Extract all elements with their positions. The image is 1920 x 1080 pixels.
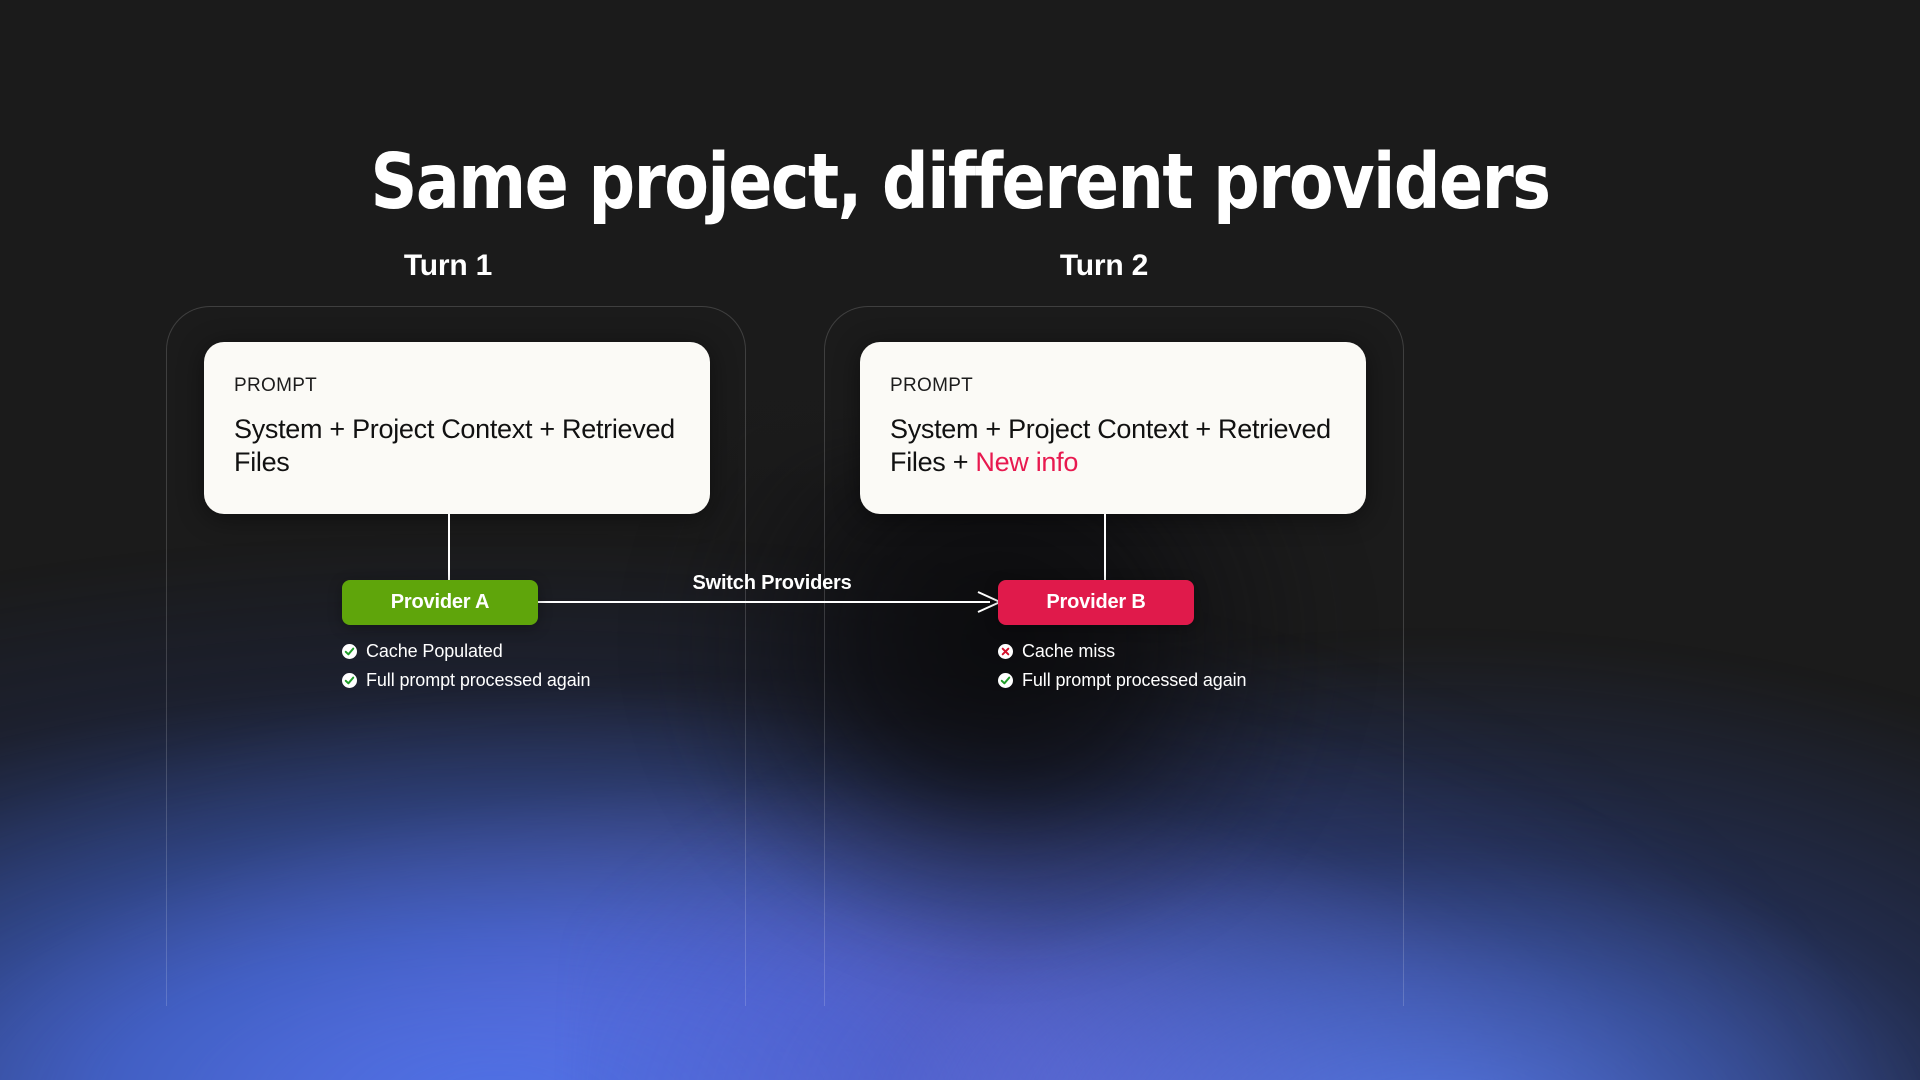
prompt-kicker-1: PROMPT [234,375,680,397]
prompt-body-2: System + Project Context + Retrieved Fil… [890,413,1336,479]
provider-a-pill[interactable]: Provider A [342,580,538,625]
status-row: Cache miss [998,641,1246,662]
check-circle-icon [998,673,1013,688]
turn-label-2: Turn 2 [974,249,1234,283]
provider-b-pill[interactable]: Provider B [998,580,1194,625]
status-label: Full prompt processed again [1022,670,1246,691]
x-circle-icon [998,644,1013,659]
prompt-kicker-2: PROMPT [890,375,1336,397]
prompt-card-2: PROMPT System + Project Context + Retrie… [860,342,1366,514]
slide-canvas: Same project, different providers Turn 1… [0,0,1920,1080]
status-row: Cache Populated [342,641,590,662]
provider-b-label: Provider B [1046,591,1145,614]
status-row: Full prompt processed again [342,670,590,691]
prompt-accent-2: New info [975,447,1078,477]
status-list-1: Cache Populated Full prompt processed ag… [342,641,590,699]
turn-label-1: Turn 1 [318,249,578,283]
status-label: Cache Populated [366,641,503,662]
prompt-text-1: System + Project Context + Retrieved Fil… [234,414,675,477]
status-list-2: Cache miss Full prompt processed again [998,641,1246,699]
prompt-card-1: PROMPT System + Project Context + Retrie… [204,342,710,514]
switch-providers-label: Switch Providers [538,572,1006,595]
prompt-body-1: System + Project Context + Retrieved Fil… [234,413,680,479]
check-circle-icon [342,673,357,688]
status-label: Cache miss [1022,641,1115,662]
provider-a-label: Provider A [391,591,489,614]
status-row: Full prompt processed again [998,670,1246,691]
prompt-text-2: System + Project Context + Retrieved Fil… [890,414,1331,477]
page-title: Same project, different providers [58,144,1863,223]
status-label: Full prompt processed again [366,670,590,691]
check-circle-icon [342,644,357,659]
